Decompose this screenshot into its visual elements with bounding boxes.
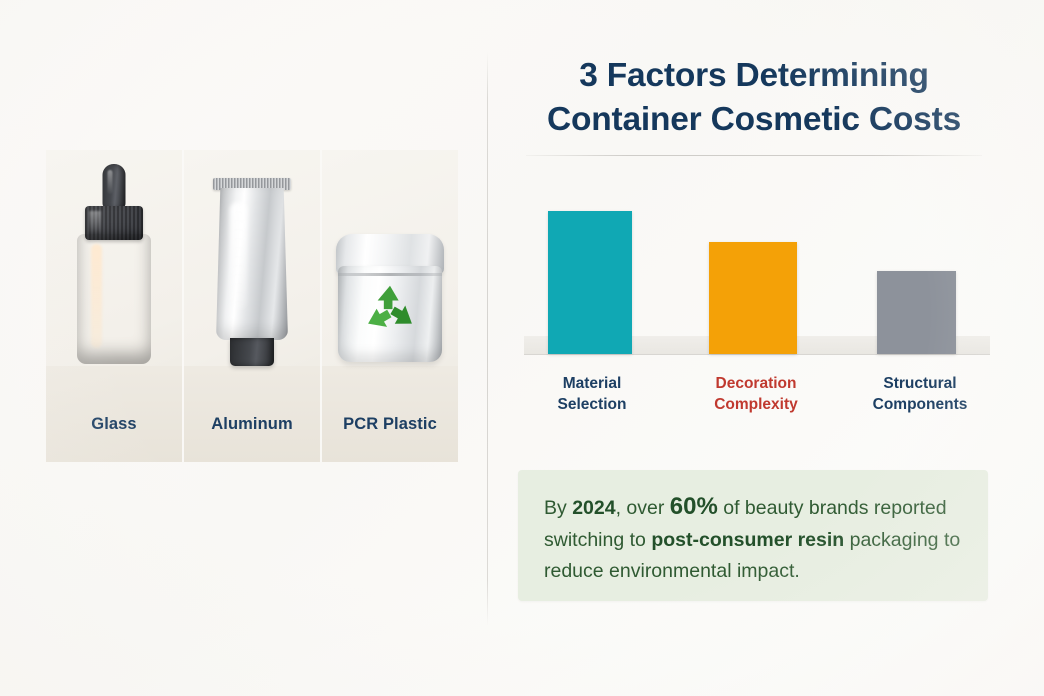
product-label-aluminum: Aluminum — [184, 415, 320, 434]
page-title-line-1: 3 Factors Determining — [579, 57, 929, 94]
bar-label-line-2: Selection — [558, 396, 627, 413]
bar-slot-material-selection — [546, 211, 634, 354]
bar-label-material-selection: Material Selection — [540, 373, 644, 416]
page-title-line-2: Container Cosmetic Costs — [547, 101, 961, 138]
bar-label-line-2: Complexity — [714, 396, 798, 413]
callout-year: 2024 — [572, 497, 615, 519]
factors-bar-chart: Material Selection Decoration Complexity… — [518, 184, 990, 394]
callout-text: By 2024, over 60% of beauty brands repor… — [544, 488, 962, 586]
panel-divider — [487, 52, 488, 626]
bar-label-line-1: Material — [563, 375, 622, 392]
infographic-canvas: Glass Aluminum — [0, 0, 1044, 696]
callout-part-1: By — [544, 497, 572, 519]
product-card-pcr-plastic[interactable]: PCR Plastic — [322, 150, 458, 462]
page-title: 3 Factors Determining Container Cosmetic… — [518, 54, 990, 141]
content-panel: 3 Factors Determining Container Cosmetic… — [518, 54, 990, 394]
callout-percent: 60% — [670, 493, 718, 520]
recycling-symbol-icon — [359, 282, 421, 340]
statistic-callout: By 2024, over 60% of beauty brands repor… — [518, 470, 988, 601]
bar-slot-structural-components — [872, 271, 960, 354]
amber-dropper-bottle-icon — [77, 234, 151, 364]
tube-flip-cap-icon — [230, 338, 274, 366]
product-gallery: Glass Aluminum — [46, 150, 458, 462]
product-card-glass[interactable]: Glass — [46, 150, 182, 462]
product-label-glass: Glass — [46, 415, 182, 434]
chart-bars — [546, 194, 960, 354]
product-card-aluminum[interactable]: Aluminum — [184, 150, 320, 462]
bar-material-selection[interactable] — [548, 211, 632, 354]
bar-slot-decoration-complexity — [709, 242, 797, 354]
dropper-bulb-icon — [103, 164, 126, 210]
bar-label-line-2: Components — [873, 396, 968, 413]
chart-baseline — [524, 354, 990, 355]
bar-decoration-complexity[interactable] — [709, 242, 797, 354]
bar-structural-components[interactable] — [877, 271, 956, 354]
bar-label-line-1: Decoration — [716, 375, 797, 392]
bar-label-decoration-complexity: Decoration Complexity — [704, 373, 808, 416]
callout-part-2: , over — [616, 497, 670, 519]
product-label-pcr-plastic: PCR Plastic — [322, 415, 458, 434]
bar-label-line-1: Structural — [883, 375, 956, 392]
title-divider — [526, 155, 982, 156]
aluminum-squeeze-tube-icon — [216, 188, 288, 340]
bar-label-structural-components: Structural Components — [868, 373, 972, 416]
callout-emphasis: post-consumer resin — [651, 529, 844, 551]
jar-seam-line — [338, 273, 442, 276]
chart-category-labels: Material Selection Decoration Complexity… — [540, 373, 972, 416]
